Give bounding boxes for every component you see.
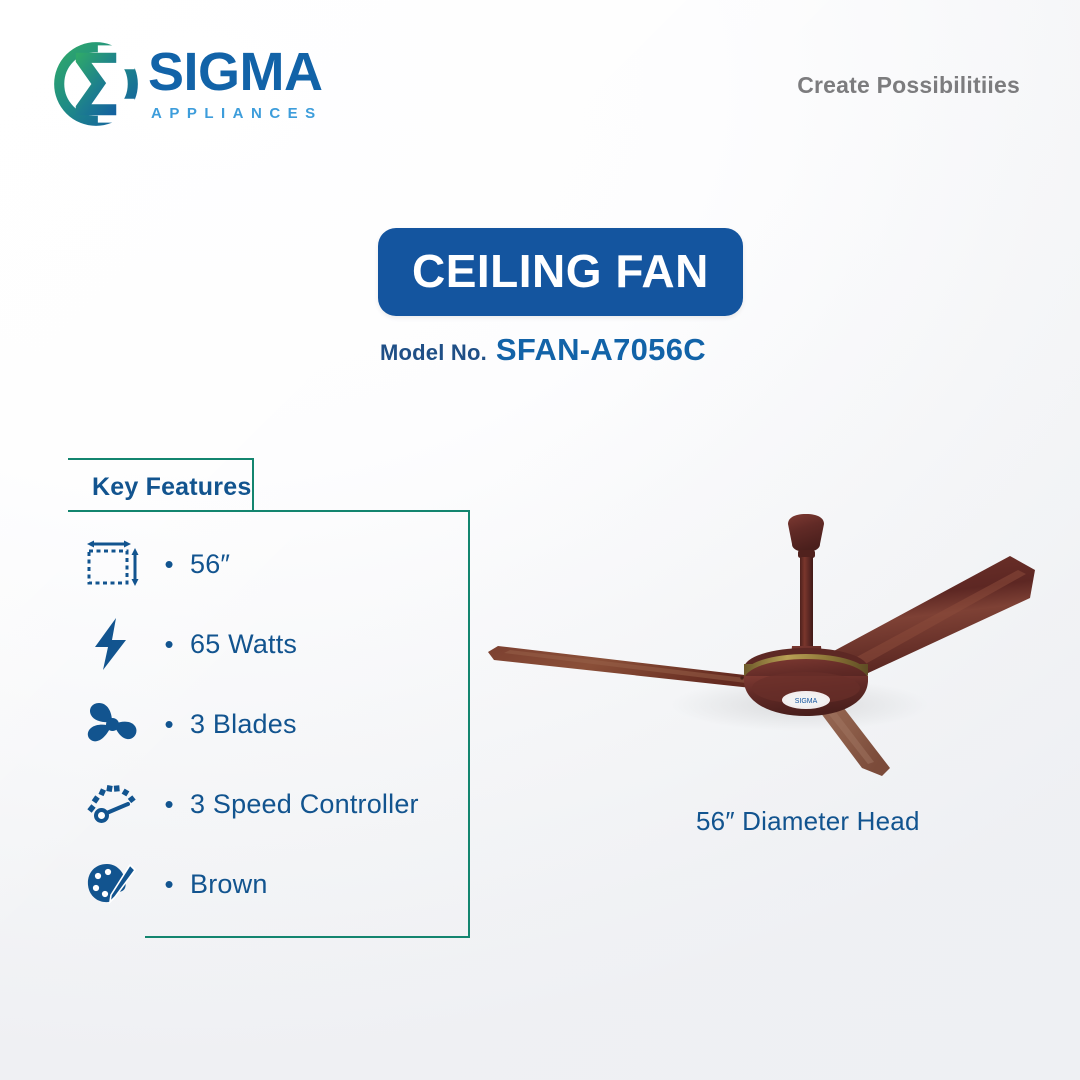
feature-row-speed: • 3 Speed Controller <box>68 764 468 844</box>
model-number-line: Model No. SFAN-A7056C <box>380 332 743 368</box>
feature-label-color: Brown <box>190 869 268 900</box>
power-bolt-icon <box>76 615 148 673</box>
dimension-icon <box>76 535 148 593</box>
feature-row-power: • 65 Watts <box>68 604 468 684</box>
key-features-list: • 56″ • 65 Watts <box>68 510 470 938</box>
fan-motor-housing: SIGMA <box>744 648 868 716</box>
product-caption: 56″ Diameter Head <box>696 806 920 837</box>
feature-bullet: • <box>148 711 190 737</box>
svg-text:SIGMA: SIGMA <box>795 698 818 705</box>
feature-bullet: • <box>148 871 190 897</box>
feature-bullet: • <box>148 551 190 577</box>
key-features-panel: Key Features • 56″ <box>68 458 508 938</box>
speed-gauge-icon <box>76 775 148 833</box>
brand-subtitle: APPLIANCES <box>151 105 323 122</box>
page-header: SIGMA APPLIANCES Create Possibilitiies <box>0 0 1080 160</box>
feature-bullet: • <box>148 791 190 817</box>
sigma-ring-logo-icon <box>50 38 142 130</box>
fan-blades-icon <box>76 695 148 753</box>
key-features-title: Key Features <box>92 473 251 502</box>
title-block: CEILING FAN Model No. SFAN-A7056C <box>378 228 743 368</box>
feature-row-color: • Brown <box>68 844 468 924</box>
model-value: SFAN-A7056C <box>496 332 706 368</box>
brand-wordmark: SIGMA APPLIANCES <box>148 46 323 122</box>
key-features-header-tab: Key Features <box>68 458 254 512</box>
feature-row-blades: • 3 Blades <box>68 684 468 764</box>
feature-bullet: • <box>148 631 190 657</box>
product-advertisement-page: SIGMA APPLIANCES Create Possibilitiies C… <box>0 0 1080 1080</box>
color-palette-icon <box>76 855 148 913</box>
feature-label-size: 56″ <box>190 549 230 580</box>
feature-label-power: 65 Watts <box>190 629 297 660</box>
brand-name: SIGMA <box>148 46 323 99</box>
feature-label-speed: 3 Speed Controller <box>190 789 419 820</box>
feature-label-blades: 3 Blades <box>190 709 297 740</box>
key-features-bottom-border <box>145 936 468 938</box>
brand-logo: SIGMA APPLIANCES <box>50 38 323 130</box>
product-title-badge: CEILING FAN <box>378 228 743 316</box>
brand-tagline: Create Possibilitiies <box>797 72 1020 99</box>
ceiling-fan-photo: SIGMA <box>470 500 1060 800</box>
fan-blade-left <box>488 646 770 690</box>
feature-row-size: • 56″ <box>68 524 468 604</box>
fan-downrod-and-canopy <box>788 514 824 666</box>
model-label: Model No. <box>380 340 487 366</box>
